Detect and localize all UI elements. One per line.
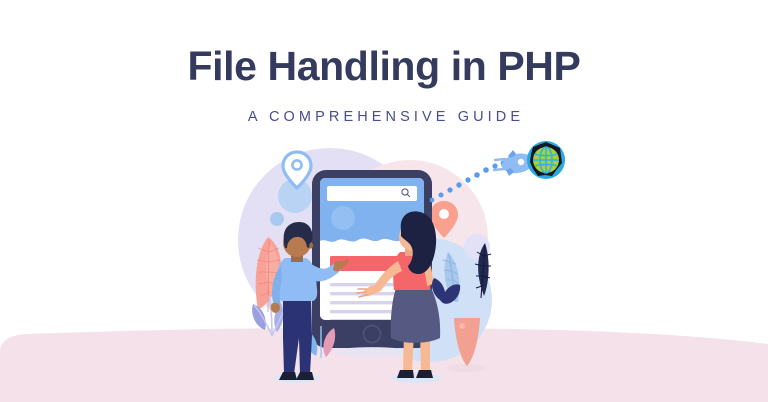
page-title: File Handling in PHP	[0, 42, 768, 90]
right-person-skirt	[391, 288, 440, 343]
right-person-shoe-front	[416, 370, 433, 378]
phone-shadow	[334, 347, 410, 357]
heading-block: File Handling in PHP A COMPREHENSIVE GUI…	[0, 42, 768, 127]
header-decor-circle	[331, 206, 355, 230]
map-pin-blue-hole	[292, 160, 301, 169]
map-pin-coral-hole	[439, 209, 449, 219]
rocket-window	[518, 159, 524, 165]
rocket-flame-line-1	[495, 159, 505, 160]
banner-root: File Handling in PHP A COMPREHENSIVE GUI…	[0, 0, 768, 402]
plant-pot	[454, 318, 480, 366]
pot-highlight	[459, 323, 465, 329]
right-person-shoe-back	[397, 370, 414, 378]
search-bar[interactable]	[327, 186, 417, 201]
left-person-legs	[283, 298, 312, 374]
globe-icon	[527, 141, 565, 179]
pot-shadow	[446, 364, 486, 372]
left-person-shoe-back	[279, 372, 297, 380]
page-subtitle: A COMPREHENSIVE GUIDE	[0, 107, 768, 127]
blue-dot-small	[270, 212, 284, 226]
rocket-flame-line-2	[494, 169, 504, 170]
